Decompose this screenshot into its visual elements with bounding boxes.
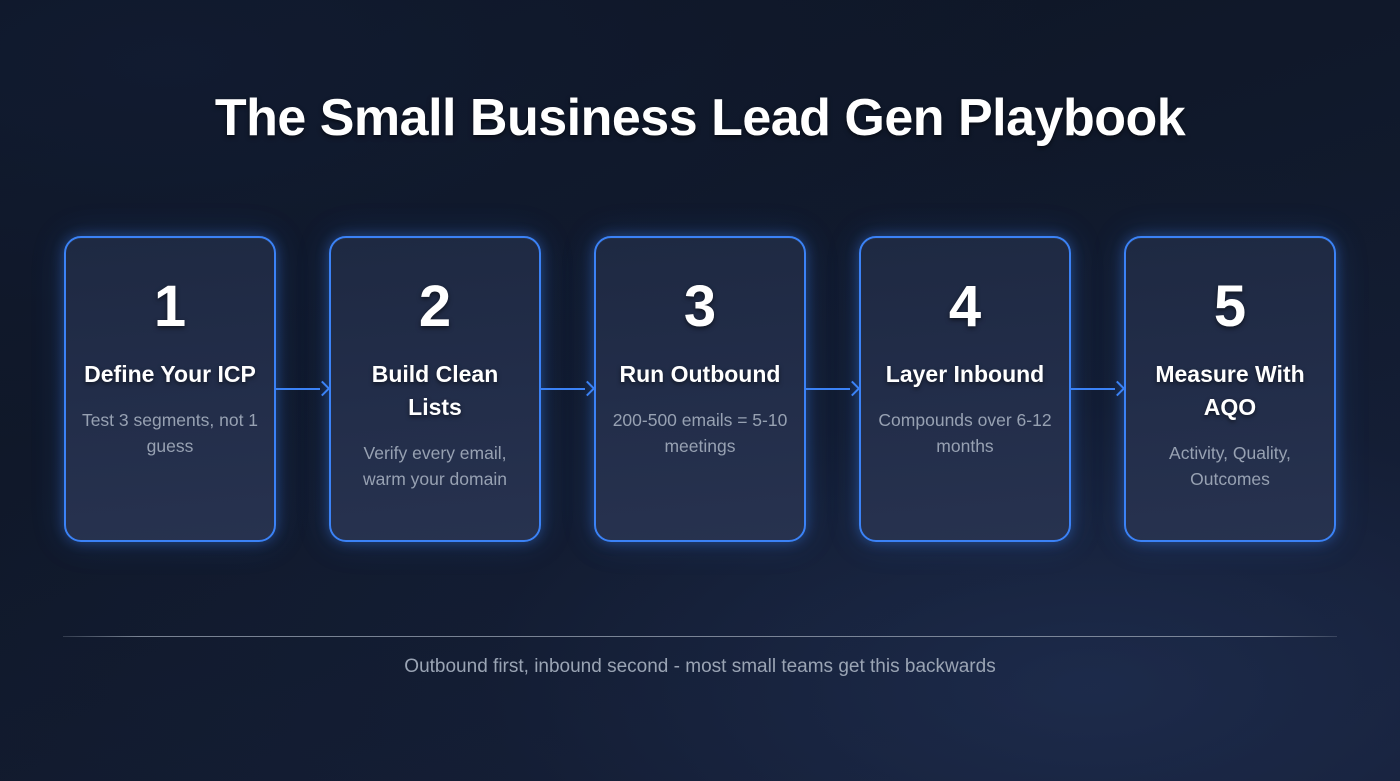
step-description: Compounds over 6-12 months xyxy=(875,408,1055,459)
arrow-right-icon xyxy=(806,374,859,404)
step-number: 3 xyxy=(684,278,716,336)
step-title: Run Outbound xyxy=(620,358,781,391)
playbook-slide: The Small Business Lead Gen Playbook 1 D… xyxy=(0,0,1400,781)
step-title: Build Clean Lists xyxy=(345,358,525,424)
footer-note: Outbound first, inbound second - most sm… xyxy=(0,656,1400,678)
step-description: Test 3 segments, not 1 guess xyxy=(80,408,260,459)
step-number: 4 xyxy=(949,278,981,336)
arrow-right-icon xyxy=(541,374,594,404)
step-title: Layer Inbound xyxy=(886,358,1044,391)
arrow-right-icon xyxy=(276,374,329,404)
step-description: Verify every email, warm your domain xyxy=(345,441,525,492)
step-title: Measure With AQO xyxy=(1140,358,1320,424)
steps-row: 1 Define Your ICP Test 3 segments, not 1… xyxy=(64,236,1336,542)
step-description: Activity, Quality, Outcomes xyxy=(1140,441,1320,492)
step-card-4[interactable]: 4 Layer Inbound Compounds over 6-12 mont… xyxy=(859,236,1071,542)
arrow-shaft xyxy=(1071,388,1115,390)
step-card-2[interactable]: 2 Build Clean Lists Verify every email, … xyxy=(329,236,541,542)
arrow-right-icon xyxy=(1071,374,1124,404)
arrow-head xyxy=(845,381,861,397)
step-card-5[interactable]: 5 Measure With AQO Activity, Quality, Ou… xyxy=(1124,236,1336,542)
step-number: 1 xyxy=(154,278,186,336)
step-card-3[interactable]: 3 Run Outbound 200-500 emails = 5-10 mee… xyxy=(594,236,806,542)
arrow-head xyxy=(315,381,331,397)
step-card-1[interactable]: 1 Define Your ICP Test 3 segments, not 1… xyxy=(64,236,276,542)
footer-divider xyxy=(63,636,1337,637)
arrow-head xyxy=(1110,381,1126,397)
arrow-shaft xyxy=(276,388,320,390)
arrow-shaft xyxy=(541,388,585,390)
step-title: Define Your ICP xyxy=(84,358,256,391)
page-title: The Small Business Lead Gen Playbook xyxy=(0,88,1400,148)
arrow-head xyxy=(580,381,596,397)
arrow-shaft xyxy=(806,388,850,390)
step-number: 2 xyxy=(419,278,451,336)
step-number: 5 xyxy=(1214,278,1246,336)
step-description: 200-500 emails = 5-10 meetings xyxy=(610,408,790,459)
